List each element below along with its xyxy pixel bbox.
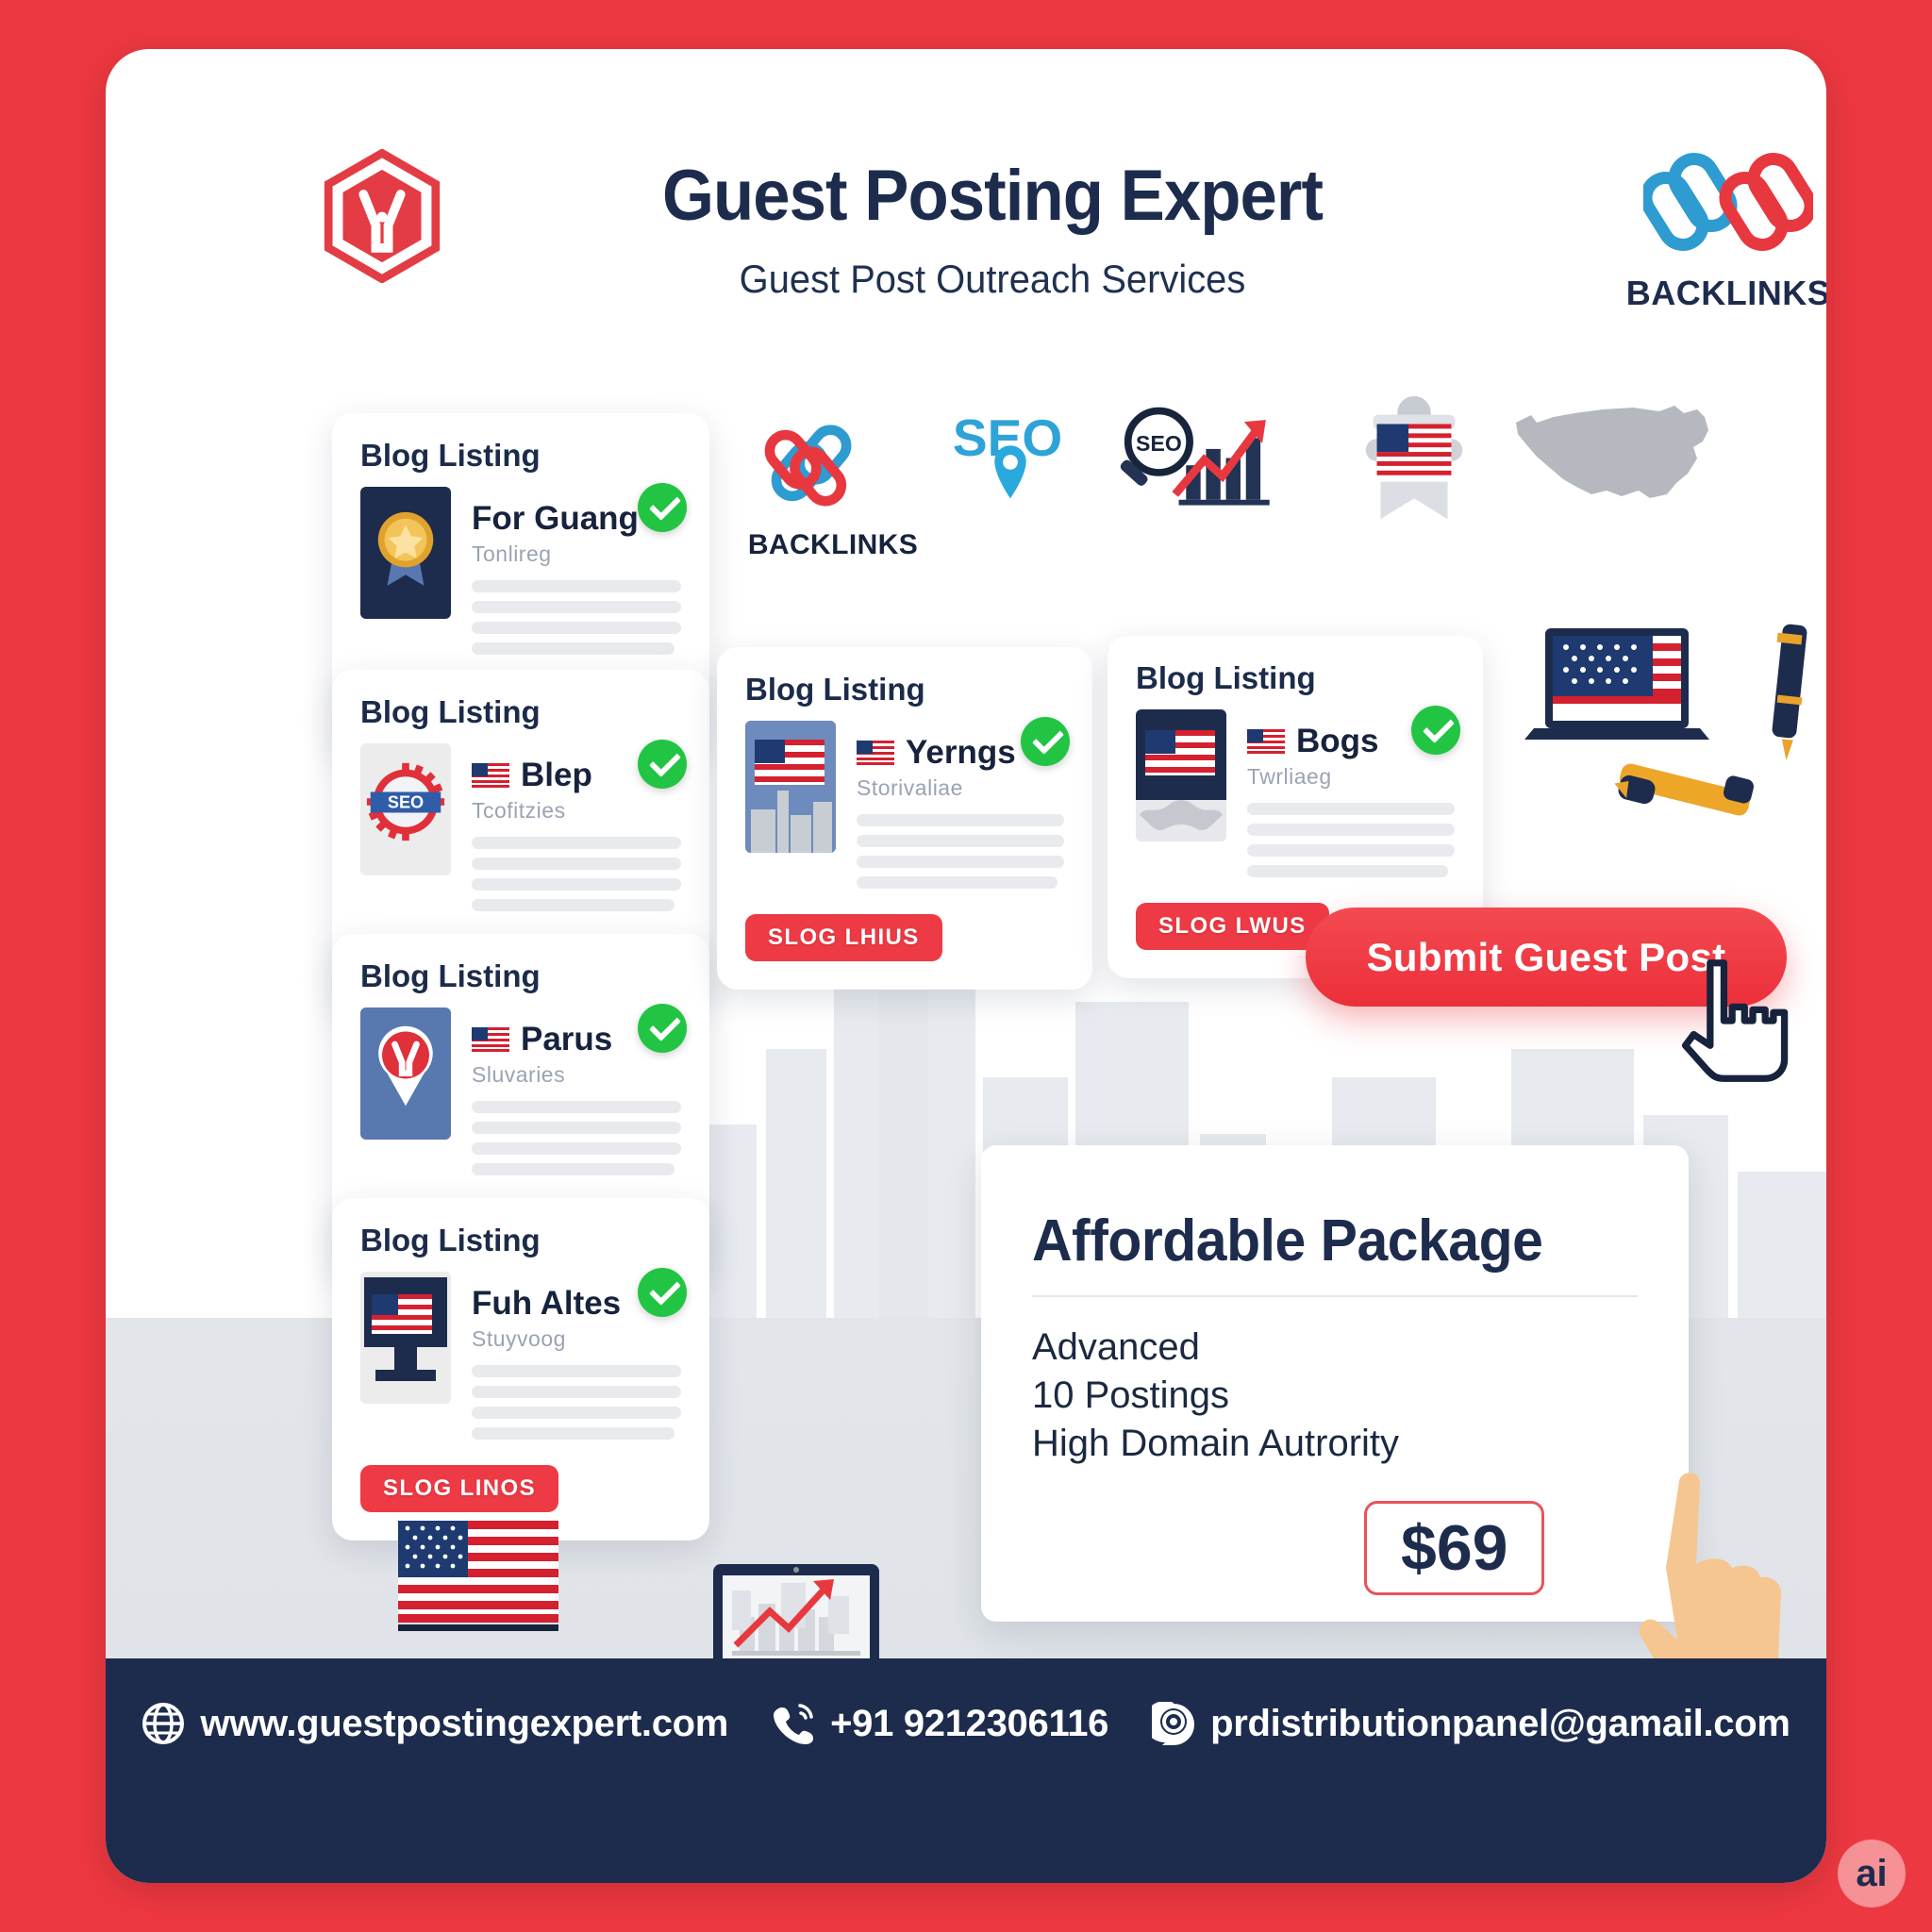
placeholder-bars xyxy=(472,1101,681,1175)
card-title: Blep xyxy=(521,757,592,794)
poster-canvas: Guest Posting Expert Guest Post Outreach… xyxy=(106,49,1826,1883)
svg-text:SEO: SEO xyxy=(388,792,424,811)
check-circle-icon xyxy=(1021,717,1070,766)
seo-location-pin-icon: SEO xyxy=(949,404,1072,515)
card-subtitle: Storivaliae xyxy=(857,775,1064,801)
card-action-badge[interactable]: SLOG LWUS xyxy=(1136,903,1329,950)
check-circle-icon xyxy=(638,1268,687,1317)
placeholder-bars xyxy=(857,814,1064,889)
footer-email[interactable]: prdistributionpanel@gamail.com xyxy=(1152,1702,1790,1745)
backlinks-logo-label: BACKLINKS xyxy=(1615,274,1826,313)
placeholder-bars xyxy=(472,1365,681,1440)
us-flag-icon xyxy=(1247,729,1285,754)
placeholder-bars xyxy=(1247,803,1455,877)
footer-phone[interactable]: +91 9212306116 xyxy=(772,1702,1108,1745)
icon-seo-analytics: SEO xyxy=(1098,400,1287,523)
pencil-icon xyxy=(1612,761,1756,817)
backlinks-logo-header: BACKLINKS xyxy=(1615,143,1826,313)
card-header: Blog Listing xyxy=(745,672,1064,708)
card-action-badge[interactable]: SLOG LHIUS xyxy=(745,914,942,961)
package-price: $69 xyxy=(1364,1501,1544,1595)
hexagon-monogram-logo xyxy=(315,149,449,283)
card-title: Bogs xyxy=(1296,723,1379,760)
laptop-us-flag-icon xyxy=(1524,628,1709,740)
card-title: For Guang xyxy=(472,500,639,538)
card-header: Blog Listing xyxy=(1136,660,1455,696)
feature-icon-strip: BACKLINKS SEO SEO xyxy=(743,417,1826,606)
footer-contact-bar: www.guestpostingexpert.com +91 921230611… xyxy=(106,1658,1826,1883)
chain-links-icon xyxy=(762,417,904,521)
instagram-icon xyxy=(1152,1702,1195,1745)
us-flag-icon xyxy=(398,1521,558,1640)
svg-text:SEO: SEO xyxy=(1136,431,1182,456)
card-subtitle: Tcofitzies xyxy=(472,798,681,824)
card-header: Blog Listing xyxy=(360,958,681,994)
card-title: Fuh Altes xyxy=(472,1285,621,1323)
laptop-pens-illustration xyxy=(1521,606,1826,837)
ai-watermark-badge: ai xyxy=(1838,1840,1906,1907)
globe-icon xyxy=(142,1702,185,1745)
icon-backlinks: BACKLINKS xyxy=(743,417,923,561)
us-flag-ribbon-badge-icon xyxy=(1357,389,1471,528)
us-flag-icon xyxy=(857,741,894,765)
award-medal-icon xyxy=(360,487,451,619)
footer-phone-text: +91 9212306116 xyxy=(830,1703,1108,1745)
check-circle-icon xyxy=(1411,706,1460,755)
page-subtitle: Guest Post Outreach Services xyxy=(508,257,1476,302)
card-title: Parus xyxy=(521,1021,612,1058)
package-line-1: Advanced xyxy=(1032,1324,1638,1372)
divider xyxy=(1032,1295,1638,1297)
card-subtitle: Tonlireg xyxy=(472,541,681,567)
card-header: Blog Listing xyxy=(360,438,681,474)
card-title: Yerngs xyxy=(906,734,1016,772)
list-item[interactable]: Blog Listing Fuh Altes S xyxy=(332,1198,709,1541)
us-flag-monitor-icon xyxy=(360,1272,451,1404)
page-title: Guest Posting Expert xyxy=(519,155,1466,237)
check-circle-icon xyxy=(638,483,687,532)
icon-us-map xyxy=(1504,392,1721,520)
card-action-badge[interactable]: SLOG LINOS xyxy=(360,1465,558,1512)
placeholder-bars xyxy=(472,837,681,911)
package-title: Affordable Package xyxy=(1032,1207,1607,1274)
card-subtitle: Stuyvoog xyxy=(472,1326,681,1352)
ai-watermark-text: ai xyxy=(1856,1853,1887,1895)
footer-website[interactable]: www.guestpostingexpert.com xyxy=(142,1702,728,1745)
card-header: Blog Listing xyxy=(360,1223,681,1258)
footer-website-text: www.guestpostingexpert.com xyxy=(200,1703,728,1745)
icon-us-flag-badge xyxy=(1343,389,1485,533)
us-flag-icon xyxy=(472,1027,509,1052)
phone-icon xyxy=(772,1702,815,1745)
map-pin-logo-icon xyxy=(360,1008,451,1140)
us-map-silhouette-icon xyxy=(1508,392,1716,515)
card-subtitle: Twrliaeg xyxy=(1247,764,1455,790)
us-flag-eagle-icon xyxy=(1136,709,1226,841)
check-circle-icon xyxy=(638,1004,687,1053)
icon-seo-pin: SEO xyxy=(940,404,1081,520)
card-subtitle: Sluvaries xyxy=(472,1062,681,1088)
package-line-3: High Domain Autrority xyxy=(1032,1420,1638,1468)
seo-magnifier-bar-chart-icon: SEO xyxy=(1103,400,1282,518)
check-circle-icon xyxy=(638,740,687,789)
chain-links-icon xyxy=(1643,143,1813,266)
pen-icon xyxy=(1772,624,1807,761)
placeholder-bars xyxy=(472,580,681,655)
seo-rosette-badge-icon: SEO xyxy=(360,743,451,875)
pointer-hand-cursor-icon xyxy=(1667,955,1808,1087)
us-flag-city-icon xyxy=(745,721,836,853)
package-line-2: 10 Postings xyxy=(1032,1372,1638,1420)
icon-backlinks-caption: BACKLINKS xyxy=(743,529,923,561)
list-item[interactable]: Blog Listing xyxy=(717,647,1092,990)
us-flag-icon xyxy=(472,763,509,788)
affordable-package-panel: Affordable Package Advanced 10 Postings … xyxy=(981,1145,1689,1622)
footer-email-text: prdistributionpanel@gamail.com xyxy=(1210,1703,1790,1745)
card-header: Blog Listing xyxy=(360,694,681,730)
